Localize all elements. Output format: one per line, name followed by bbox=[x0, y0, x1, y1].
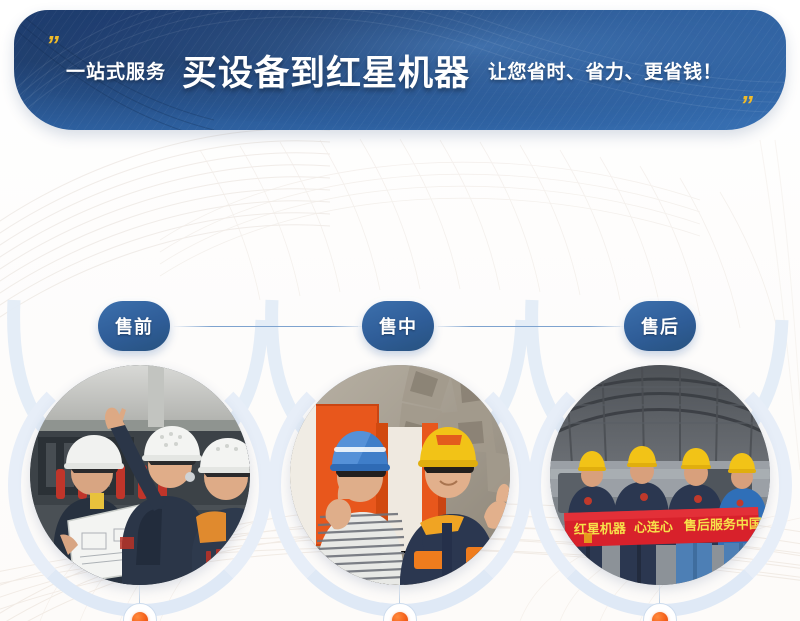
step-pill-in-sales[interactable]: 售中 bbox=[362, 301, 434, 351]
in-sales-workers-thumbs-up-photo bbox=[290, 365, 510, 585]
svg-text:红星机器: 红星机器 bbox=[574, 521, 627, 537]
step-pill-pre-sales[interactable]: 售前 bbox=[98, 301, 170, 351]
headline-banner: ” ” 一站式服务 买设备到红星机器 让您省时、省力、更省钱！ bbox=[14, 10, 786, 130]
step-pill-label: 售前 bbox=[115, 313, 153, 339]
banner-pre-text: 一站式服务 bbox=[66, 57, 166, 84]
promo-banner-page: ” ” 一站式服务 买设备到红星机器 让您省时、省力、更省钱！ 售前 bbox=[0, 0, 800, 621]
banner-post-text: 让您省时、省力、更省钱！ bbox=[488, 57, 722, 84]
connector-line-2 bbox=[432, 326, 628, 327]
step-pill-after-sales[interactable]: 售后 bbox=[624, 301, 696, 351]
orange-dot-icon bbox=[652, 612, 668, 621]
step-photo-in-sales[interactable] bbox=[290, 365, 510, 585]
orange-dot-icon bbox=[392, 612, 408, 621]
svg-text:心连心: 心连心 bbox=[634, 519, 673, 535]
banner-main-title: 买设备到红星机器 bbox=[182, 45, 470, 96]
orange-dot-icon bbox=[132, 612, 148, 621]
service-steps: 售前 bbox=[0, 130, 800, 621]
connector-line-1 bbox=[172, 326, 368, 327]
pre-sales-engineers-pointing-photo bbox=[30, 365, 250, 585]
step-pill-label: 售后 bbox=[641, 313, 679, 339]
after-sales-team-banner-photo: 红星机器 心连心 售后服务中国行 bbox=[550, 365, 770, 585]
step-photo-pre-sales[interactable] bbox=[30, 365, 250, 585]
step-pill-label: 售中 bbox=[379, 313, 417, 339]
step-photo-after-sales[interactable]: 红星机器 心连心 售后服务中国行 bbox=[550, 365, 770, 585]
